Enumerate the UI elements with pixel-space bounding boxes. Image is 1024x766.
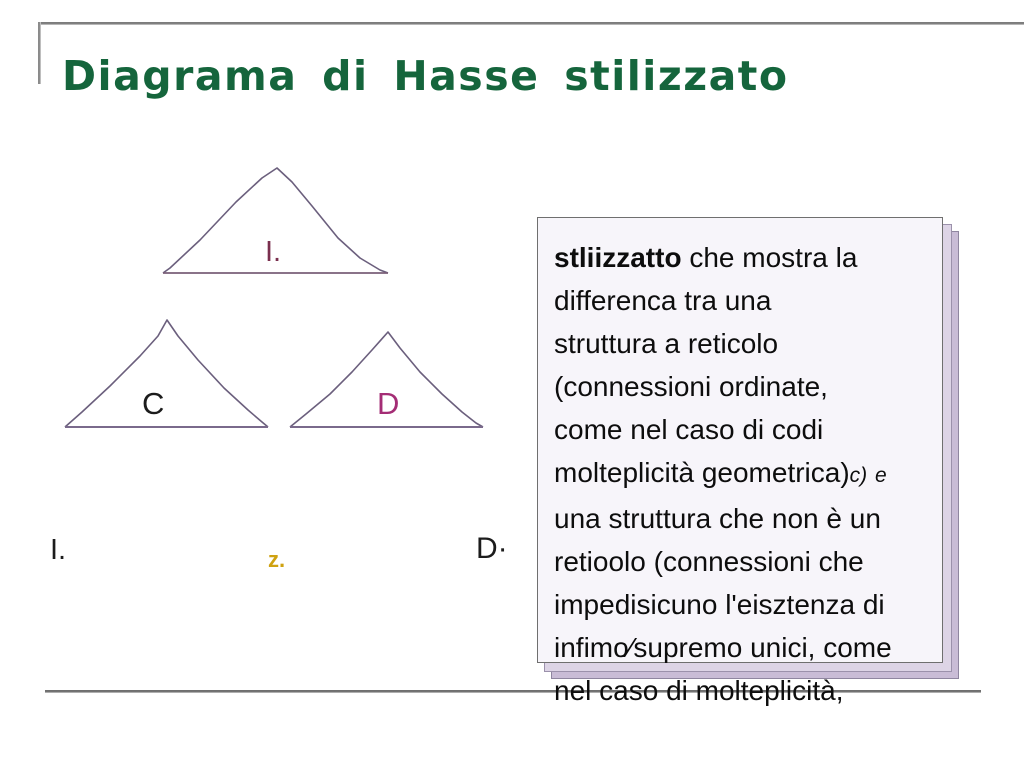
callout-body: stliizzatto che mostra la differenca tra… (554, 236, 934, 712)
page-title: Diagrama di Hasse stilizzato (62, 52, 789, 100)
callout-line-8: retioolo (connessioni che (554, 540, 934, 583)
callout-line-5: come nel caso di codi (554, 408, 934, 451)
callout-line-10: infimo⁄supremo unici, come (554, 626, 934, 669)
label-d-prime: D· (476, 534, 508, 564)
label-c: C (142, 388, 164, 419)
bottom-left-triangle (65, 320, 268, 427)
callout-superscript: c) (850, 464, 868, 487)
hasse-diagram-svg (0, 110, 530, 480)
callout-line-6: molteplicità geometrica)c) e (554, 451, 934, 497)
callout-text-1: che mostra la (689, 242, 857, 273)
callout-lead-word: stliizzatto (554, 242, 682, 273)
callout-textbox: stliizzatto che mostra la differenca tra… (537, 217, 943, 663)
callout-text-6: molteplicità geometrica) (554, 457, 850, 488)
callout-line-2: differenca tra una (554, 279, 934, 322)
label-top: I. (265, 238, 281, 267)
label-d: D (377, 388, 399, 419)
slide-canvas: Diagrama di Hasse stilizzato I. C D I. z… (0, 0, 1024, 766)
label-z: z. (268, 549, 285, 571)
slide-left-rule-stub (38, 22, 41, 84)
callout-line-11: nel caso di molteplicità, (554, 669, 934, 712)
callout-line-9: impedisicuno l'eisztenza di (554, 583, 934, 626)
callout-after-superscript: e (875, 464, 887, 487)
callout-line-1: stliizzatto che mostra la (554, 236, 934, 279)
callout-line-4: (connessioni ordinate, (554, 365, 934, 408)
hasse-diagram: I. C D I. z. D· (0, 110, 530, 480)
callout-line-7: una struttura che non è un (554, 497, 934, 540)
callout-line-3: struttura a reticolo (554, 322, 934, 365)
callout-panel: stliizzatto che mostra la differenca tra… (537, 217, 943, 663)
label-bottom-left: I. (50, 536, 66, 565)
slide-top-rule (38, 22, 1024, 25)
